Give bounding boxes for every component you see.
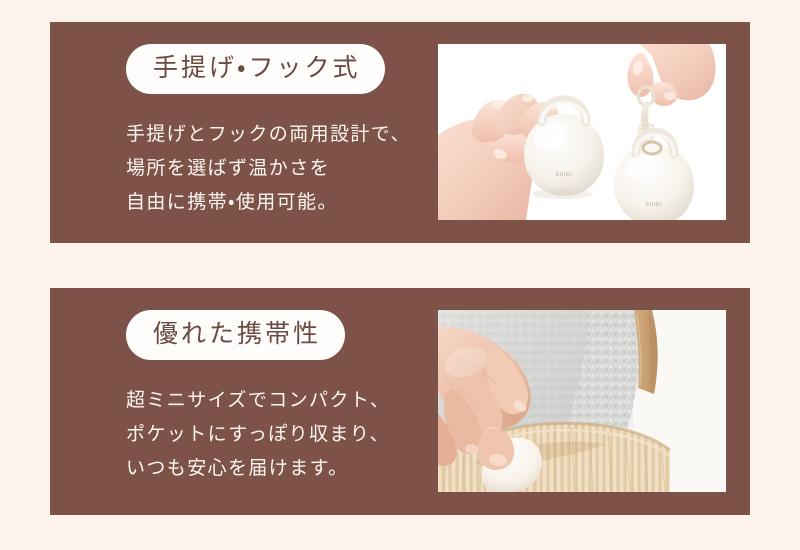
feature-description: 手提げとフックの両用設計で、 場所を選ばず温かさを 自由に携帯・使用可能。 <box>126 118 411 220</box>
product-feature-page: 手提げ・フック式 手提げとフックの両用設計で、 場所を選ばず温かさを 自由に携帯… <box>0 0 800 550</box>
feature-badge: 優れた携帯性 <box>126 310 345 360</box>
description-line: 超ミニサイズでコンパクト、 <box>126 384 390 418</box>
feature-description: 超ミニサイズでコンパクト、 ポケットにすっぽり収まり、 いつも安心を届けます。 <box>126 384 390 486</box>
feature-badge: 手提げ・フック式 <box>126 44 385 94</box>
description-line: 自由に携帯・使用可能。 <box>126 186 411 220</box>
svg-text:SUIRI: SUIRI <box>556 172 573 178</box>
description-line: ポケットにすっぽり収まり、 <box>126 418 390 452</box>
svg-text:SUIRI: SUIRI <box>646 202 663 208</box>
feature-text-column: 手提げ・フック式 手提げとフックの両用設計で、 場所を選ばず温かさを 自由に携帯… <box>88 22 438 243</box>
feature-section-hook-type: 手提げ・フック式 手提げとフックの両用設計で、 場所を選ばず温かさを 自由に携帯… <box>50 22 750 243</box>
feature-badge-label: 手提げ・フック式 <box>153 56 361 81</box>
feature-section-portability: 優れた携帯性 超ミニサイズでコンパクト、 ポケットにすっぽり収まり、 いつも安心… <box>50 288 750 515</box>
description-line: 手提げとフックの両用設計で、 <box>126 118 411 152</box>
feature-text-column: 優れた携帯性 超ミニサイズでコンパクト、 ポケットにすっぽり収まり、 いつも安心… <box>88 288 438 515</box>
description-line: 場所を選ばず温かさを <box>126 152 411 186</box>
description-line: いつも安心を届けます。 <box>126 452 390 486</box>
warmer-in-knit-pocket-photo <box>438 310 726 492</box>
feature-badge-label: 優れた携帯性 <box>153 322 321 347</box>
hand-holding-and-hanging-warmer-photo: SUIRI <box>438 44 726 220</box>
